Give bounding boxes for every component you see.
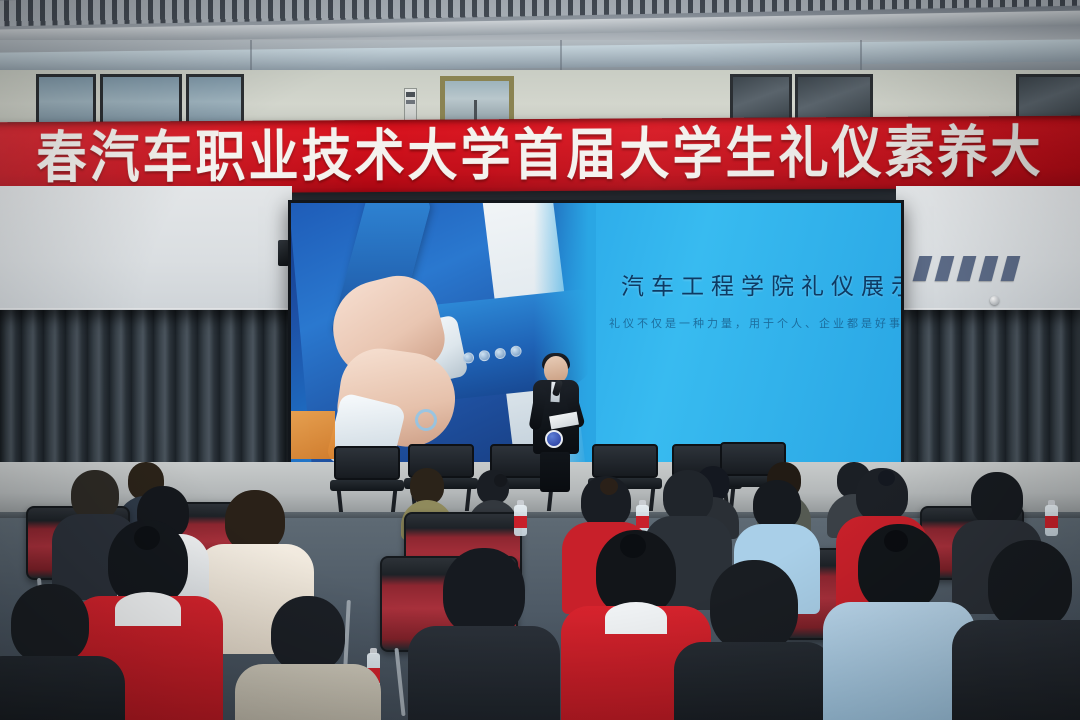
water-bottle (1045, 500, 1058, 536)
presenter-badge (545, 430, 563, 448)
wall-decor-panels (916, 256, 1017, 281)
stage-chair (330, 446, 404, 512)
event-banner: 春汽车职业技术大学首届大学生礼仪素养大 (0, 116, 1080, 195)
slide-title: 汽车工程学院礼仪展示 (621, 267, 891, 301)
audience-person (250, 596, 366, 720)
audience-person (0, 584, 110, 720)
left-side-wall (0, 186, 292, 310)
right-side-wall (896, 186, 1080, 310)
led-screen-frame: 汽车工程学院礼仪展示 礼仪不仅是一种力量，用于个人、企业都是好事 (288, 200, 904, 468)
ceiling-dome-light (990, 296, 999, 305)
audience-person (690, 560, 818, 720)
stage-presenter (528, 356, 584, 490)
upper-glass-soffit (0, 40, 1080, 74)
soffit-mullion (560, 40, 562, 74)
audience-person (968, 540, 1080, 720)
audience-person (838, 524, 960, 720)
photo-scene: 春汽车职业技术大学首届大学生礼仪素养大 (0, 0, 1080, 720)
soffit-mullion (860, 40, 862, 74)
audience-person (424, 548, 544, 720)
soffit-mullion (250, 40, 252, 74)
slide-subtitle: 礼仪不仅是一种力量，用于个人、企业都是好事 (609, 315, 901, 331)
led-screen: 汽车工程学院礼仪展示 礼仪不仅是一种力量，用于个人、企业都是好事 (291, 203, 901, 465)
event-banner-text: 春汽车职业技术大学首届大学生礼仪素养大 (36, 124, 1043, 186)
water-bottle (514, 500, 527, 536)
